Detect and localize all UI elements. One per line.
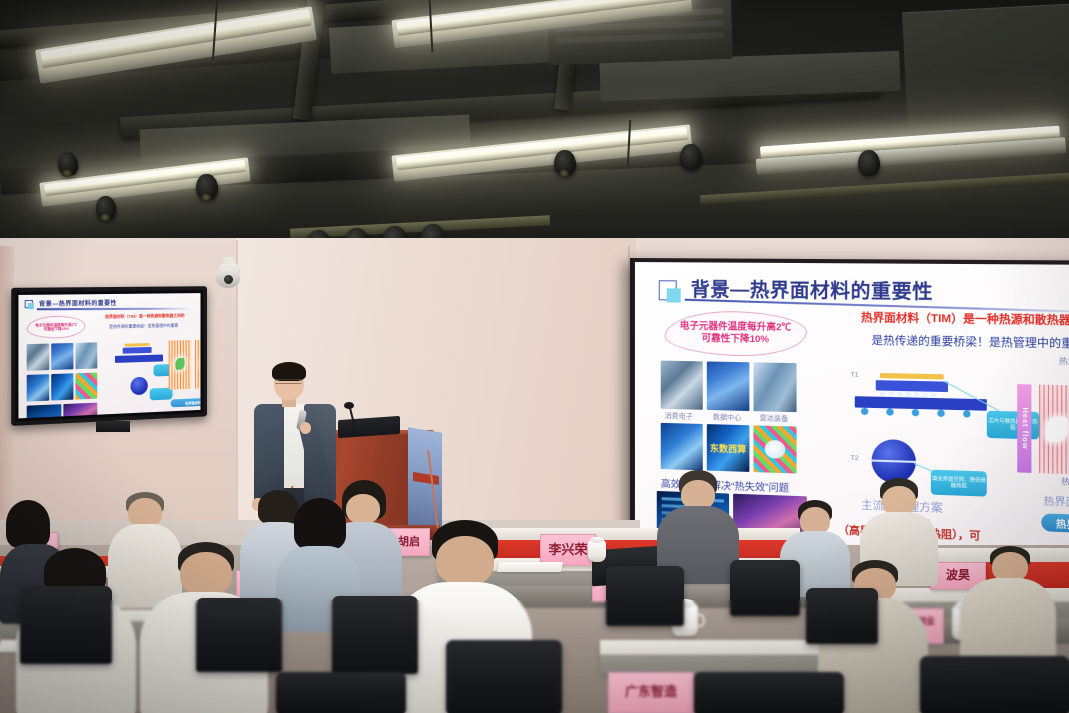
slide-badge-square-mini (28, 303, 34, 309)
office-chair (694, 672, 844, 713)
wafer-shape (765, 440, 786, 459)
cloud-callout-mini: 电子元器件温度每升高2℃ 可靠性下降10% (27, 315, 86, 339)
chip-substrate (855, 396, 987, 411)
cloud-line-2: 可靠性下降10% (44, 327, 69, 332)
cup-lid (590, 537, 604, 543)
office-chair (606, 566, 684, 626)
thumb-electronics-mini (27, 344, 49, 371)
spot-lens (62, 170, 72, 177)
placard-text: 李兴荣 (548, 543, 587, 558)
headline-2-mini: 是热传递的重要桥梁！是热管理中的重要 (109, 323, 178, 330)
chip-die (876, 380, 948, 392)
dome-security-camera (216, 262, 242, 292)
thumb-datacenter (707, 361, 750, 411)
sphere-mini (130, 377, 147, 396)
left-monitor-screen: 背景—热界面材料的重要性 电子元器件温度每升高2℃ 可靠性下降10% 热界面材料… (18, 293, 200, 418)
office-chair (446, 640, 562, 713)
slide-headline-2: 是热传递的重要桥梁！是热管理中的重要 (872, 332, 1069, 352)
tv-stand (96, 421, 130, 432)
person-head (180, 552, 232, 596)
solder-ball (937, 410, 944, 417)
solder-ball (886, 408, 893, 415)
person-hair (6, 500, 50, 548)
office-chair (806, 588, 878, 644)
office-chair (920, 656, 1069, 713)
cloud-callout-line-2: 可靠性下降10% (702, 333, 770, 346)
placard-line-1: 广东智造 (625, 685, 677, 700)
ac-vent-slat (556, 32, 724, 44)
glasses-icon (275, 379, 302, 384)
person-hair (294, 498, 346, 550)
thumb-electronics (661, 361, 703, 410)
lighting-truss (700, 173, 1069, 205)
thumb-radar-mini (75, 342, 97, 369)
right-sub-caption: 热界面材料 (1044, 492, 1069, 510)
chip-lid (880, 373, 944, 379)
cup-handle (696, 614, 705, 627)
solder-ball (963, 410, 971, 417)
microphone-capsule-icon (344, 402, 354, 409)
pill-mini: 热界面材料 (171, 398, 201, 408)
audience-member (655, 470, 739, 580)
left-wall-tv-monitor[interactable]: 背景—热界面材料的重要性 电子元器件温度每升高2℃ 可靠性下降10% 热界面材料… (11, 286, 207, 426)
thumb-chip-ai-mini (27, 374, 49, 401)
spot-lens (559, 170, 569, 177)
thumb-east-data-mini (51, 373, 73, 400)
thumb-caption-2: 数据中心 (713, 412, 741, 423)
thumb-east-data-west-compute: 东数西算 (707, 424, 750, 472)
person-torso (960, 578, 1056, 668)
slide-badge-square (667, 288, 681, 302)
office-chair (276, 672, 406, 713)
headline-1-mini: 热界面材料（TIM）是一种热源和散热器之间的 (105, 313, 184, 320)
heat-flow-arrow: Heat flow (1017, 384, 1031, 473)
placard-guangdong: 广东智造 (608, 672, 694, 713)
right-pill-label: 热界面材料 (1041, 513, 1069, 534)
office-chair (730, 560, 800, 616)
slide-rule-mini (37, 308, 193, 311)
solder-ball (912, 409, 919, 416)
bottom-text-mini: 对器件性能发挥和使用寿命 (101, 415, 143, 419)
thumb-datacenter-mini (51, 343, 73, 370)
thumb-wafer (753, 425, 796, 473)
right-top-label: 热沉 (1059, 355, 1069, 367)
right-bottom-label: 热源 (1061, 476, 1069, 488)
ceiling-duct (902, 4, 1069, 133)
chip-die-mini (123, 347, 152, 354)
person-head (436, 536, 494, 586)
left-monitor-slide-title: 背景—热界面材料的重要性 (39, 298, 117, 308)
slide-headline-1: 热界面材料（TIM）是一种热源和散热器之间的 (861, 309, 1069, 329)
presenter-hand (300, 422, 311, 434)
label-t2: T2 (851, 455, 859, 462)
heatmap-mini-b (195, 339, 201, 388)
audience-member (960, 546, 1056, 666)
office-chair (196, 598, 282, 672)
callout-box-2: 填充界面空隙、降低接触热阻 (931, 470, 987, 497)
conference-room-photo: 背景—热界面材料的重要性 电子元器件温度每升高2℃ 可靠性下降10% 热界面材料… (0, 0, 1069, 713)
cloud-callout: 电子元器件温度每升高2℃ 可靠性下降10% (665, 310, 807, 357)
thumb-monitor-mini (27, 404, 62, 418)
thumb-pcb-mini (63, 403, 97, 419)
spot-lens (100, 214, 110, 221)
heat-flow-map (1039, 385, 1069, 476)
interface-void (1046, 416, 1068, 442)
thumb-caption-3: 雷达装备 (760, 413, 789, 424)
office-chair (20, 586, 112, 664)
thumb-east-data-label: 东数西算 (710, 441, 746, 455)
solder-ball (861, 408, 868, 415)
chip-substrate-mini (115, 355, 163, 363)
thumb-radar (753, 362, 796, 412)
thumb-chip-ai (661, 423, 703, 471)
thumb-caption-1: 消费电子 (665, 411, 693, 422)
ceiling (0, 0, 1069, 252)
presenter-jacket-left (254, 404, 284, 504)
tea-cup (588, 540, 606, 562)
office-chair (332, 596, 418, 674)
camera-lens-icon (224, 275, 233, 284)
cloud-callout-line-1: 电子元器件温度每升高2℃ (680, 321, 791, 335)
thumb-wafer-mini (75, 373, 97, 400)
spot-lens (201, 194, 211, 201)
label-t1: T1 (851, 371, 859, 378)
